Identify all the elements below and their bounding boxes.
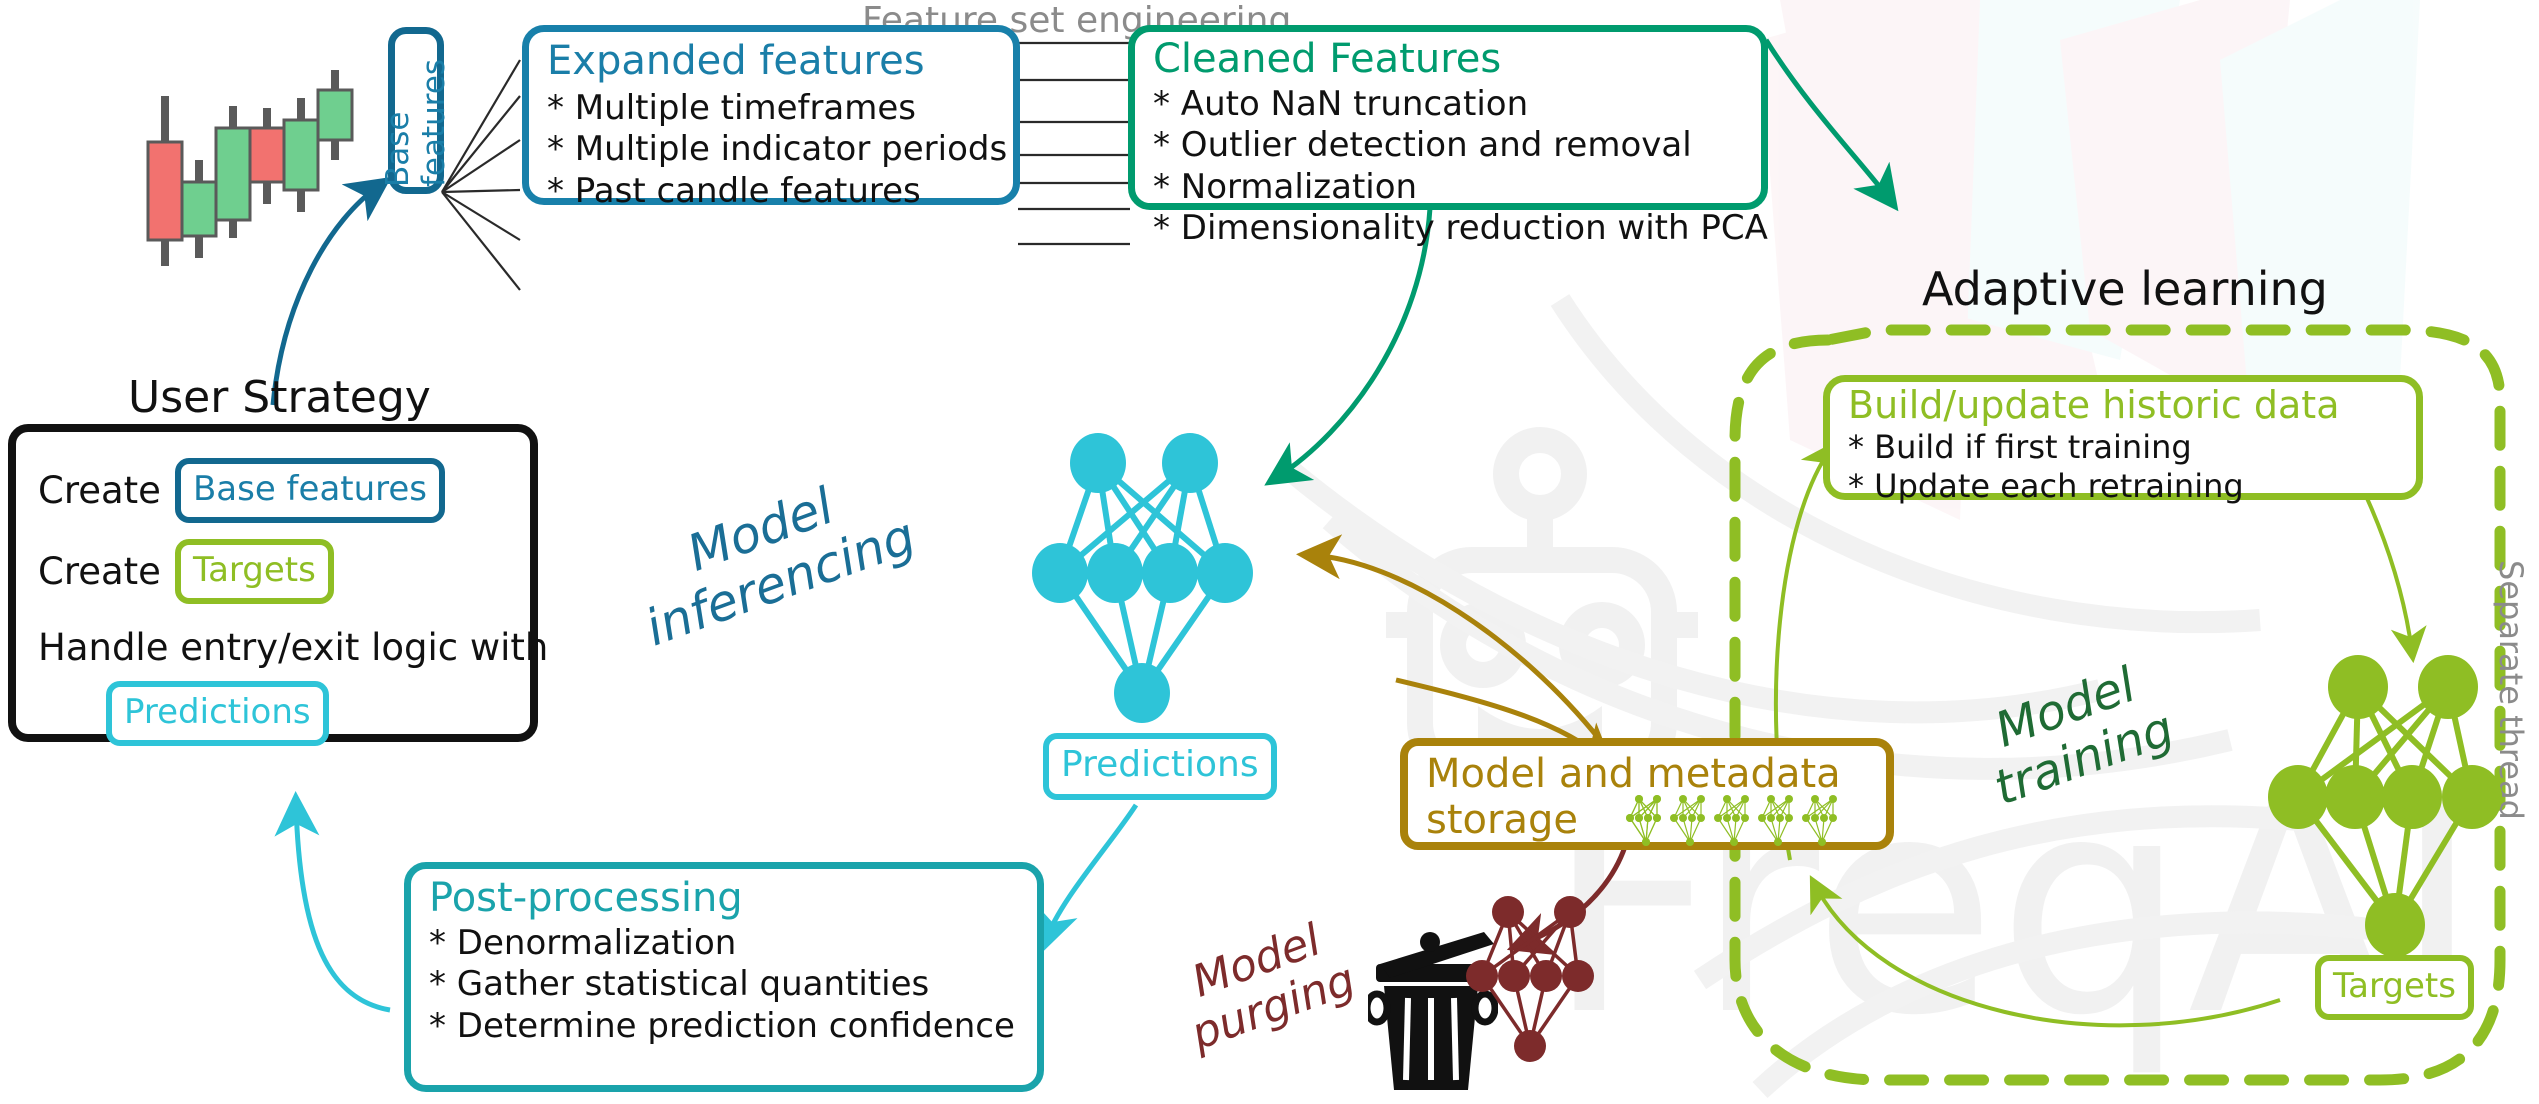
expanded-features-bullet-2: * Past candle features — [547, 171, 1013, 212]
expanded-features-card: Expanded features * Multiple timeframes … — [522, 25, 1020, 205]
candlestick-chart — [140, 70, 370, 370]
user-strategy-card: Create Base features Create Targets Hand… — [8, 424, 538, 742]
targets-pill-label: Targets — [2315, 955, 2474, 1020]
cleaned-features-card: Cleaned Features * Auto NaN truncation *… — [1128, 25, 1768, 210]
post-processing-bullet-1: * Gather statistical quantities — [429, 964, 1037, 1005]
adaptive-learning-label: Adaptive learning — [1922, 262, 2328, 316]
candle-up-3 — [216, 106, 250, 238]
candle-up-6 — [318, 70, 352, 160]
cleaned-features-bullet-1: * Outlier detection and removal — [1153, 125, 1761, 166]
arrow-training-to-storage — [1815, 885, 2280, 1025]
post-processing-bullet-2: * Determine prediction confidence — [429, 1006, 1037, 1047]
arrow-postprocessing-to-strategy — [296, 805, 390, 1010]
expanded-features-title: Expanded features — [547, 40, 1013, 82]
arrow-storage-to-inference — [1310, 555, 1600, 740]
cleaned-features-bullet-3: * Dimensionality reduction with PCA — [1153, 208, 1761, 249]
arrow-cleaned-to-adaptive — [1766, 40, 1890, 200]
base-features-label: Base features — [395, 34, 437, 187]
predictions-pill-inline[interactable]: Predictions — [106, 681, 329, 746]
cleaned-features-bullet-0: * Auto NaN truncation — [1153, 84, 1761, 125]
predictions-pill[interactable]: Predictions — [1043, 733, 1277, 800]
targets-pill-inline[interactable]: Targets — [175, 539, 334, 604]
post-processing-bullet-0: * Denormalization — [429, 923, 1037, 964]
post-processing-title: Post-processing — [429, 877, 1037, 919]
cleaned-features-title: Cleaned Features — [1153, 38, 1761, 80]
build-update-bullet-0: * Build if first training — [1848, 428, 2416, 467]
stored-models-icons — [1626, 794, 1876, 852]
build-update-title: Build/update historic data — [1848, 386, 2416, 426]
user-strategy-create-label-1: Create — [38, 469, 161, 512]
build-update-bullet-1: * Update each retraining — [1848, 467, 2416, 506]
cleaned-features-bullet-2: * Normalization — [1153, 167, 1761, 208]
ladder-expanded-to-cleaned — [1018, 43, 1130, 244]
expanded-features-bullet-1: * Multiple indicator periods — [547, 129, 1013, 170]
build-update-card: Build/update historic data * Build if fi… — [1823, 375, 2423, 500]
model-storage-line-1: Model and metadata — [1426, 752, 1841, 797]
user-strategy-entry-exit-text: Handle entry/exit logic with — [38, 626, 530, 669]
base-features-pill-inline[interactable]: Base features — [175, 458, 445, 523]
post-processing-card: Post-processing * Denormalization * Gath… — [404, 862, 1044, 1092]
model-storage-line-2: storage — [1426, 798, 1578, 843]
candle-up-5 — [284, 98, 318, 212]
arrow-predictions-to-postprocessing — [1046, 805, 1136, 940]
diagram-canvas: FreqAI — [0, 0, 2539, 1104]
predictions-pill-label: Predictions — [1043, 733, 1277, 800]
fan-base-to-expanded — [442, 60, 520, 290]
base-features-pill[interactable]: Base features — [388, 27, 444, 194]
inference-neural-network — [1020, 425, 1290, 755]
model-storage-card: Model and metadata storage — [1400, 738, 1894, 850]
user-strategy-title: User Strategy — [128, 372, 431, 423]
purged-model-network — [1460, 890, 1650, 1080]
expanded-features-bullet-0: * Multiple timeframes — [547, 88, 1013, 129]
candle-up-2 — [182, 160, 216, 258]
targets-pill[interactable]: Targets — [2315, 955, 2474, 1020]
training-neural-network — [2250, 645, 2539, 975]
candle-down-1 — [148, 96, 182, 266]
user-strategy-create-label-2: Create — [38, 550, 161, 593]
candle-down-4 — [250, 108, 284, 204]
